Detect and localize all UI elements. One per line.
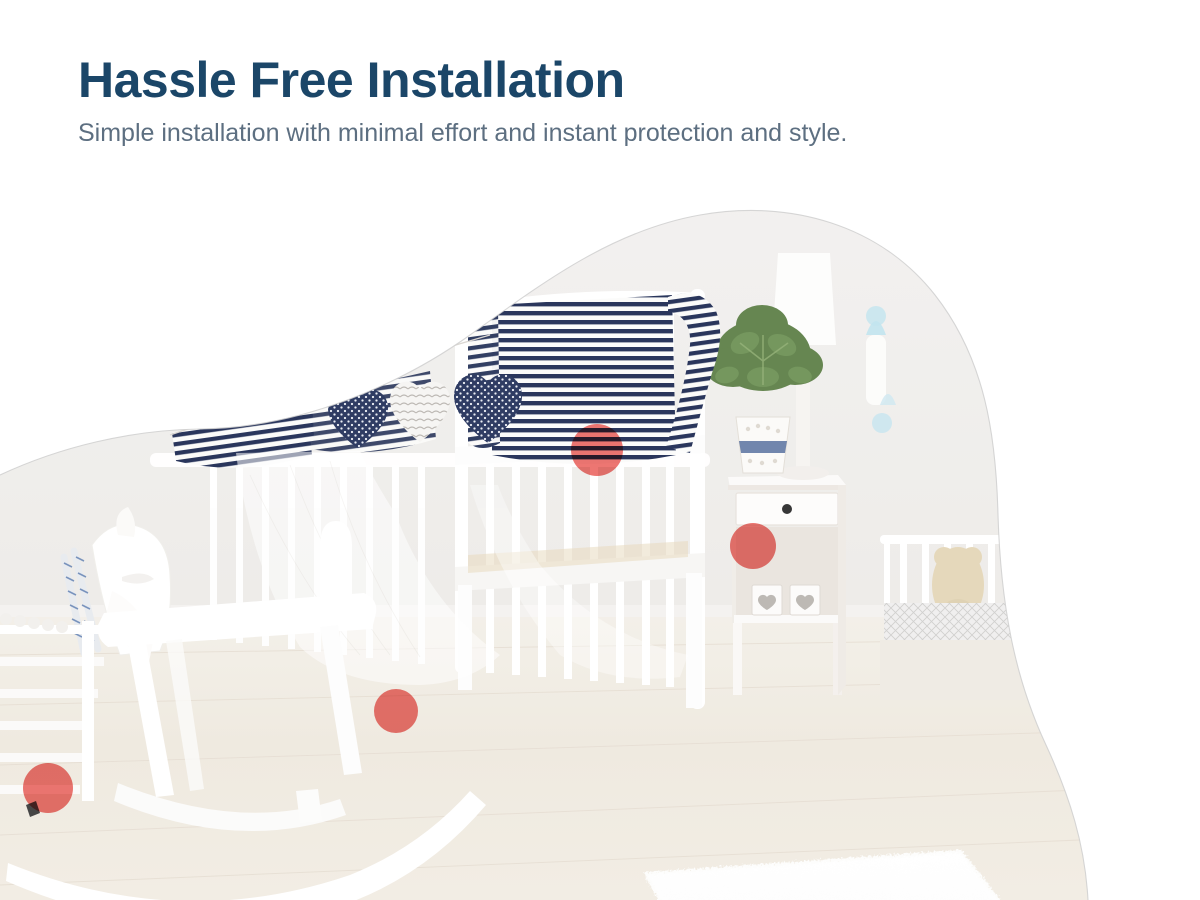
nursery-room-photo [0,185,1200,900]
page-title: Hassle Free Installation [78,52,847,108]
page-subtitle: Simple installation with minimal effort … [78,118,847,148]
nursery-scene-illustration [0,185,1200,900]
promo-banner: Hassle Free Installation Simple installa… [0,0,1200,900]
header-block: Hassle Free Installation Simple installa… [78,52,847,148]
